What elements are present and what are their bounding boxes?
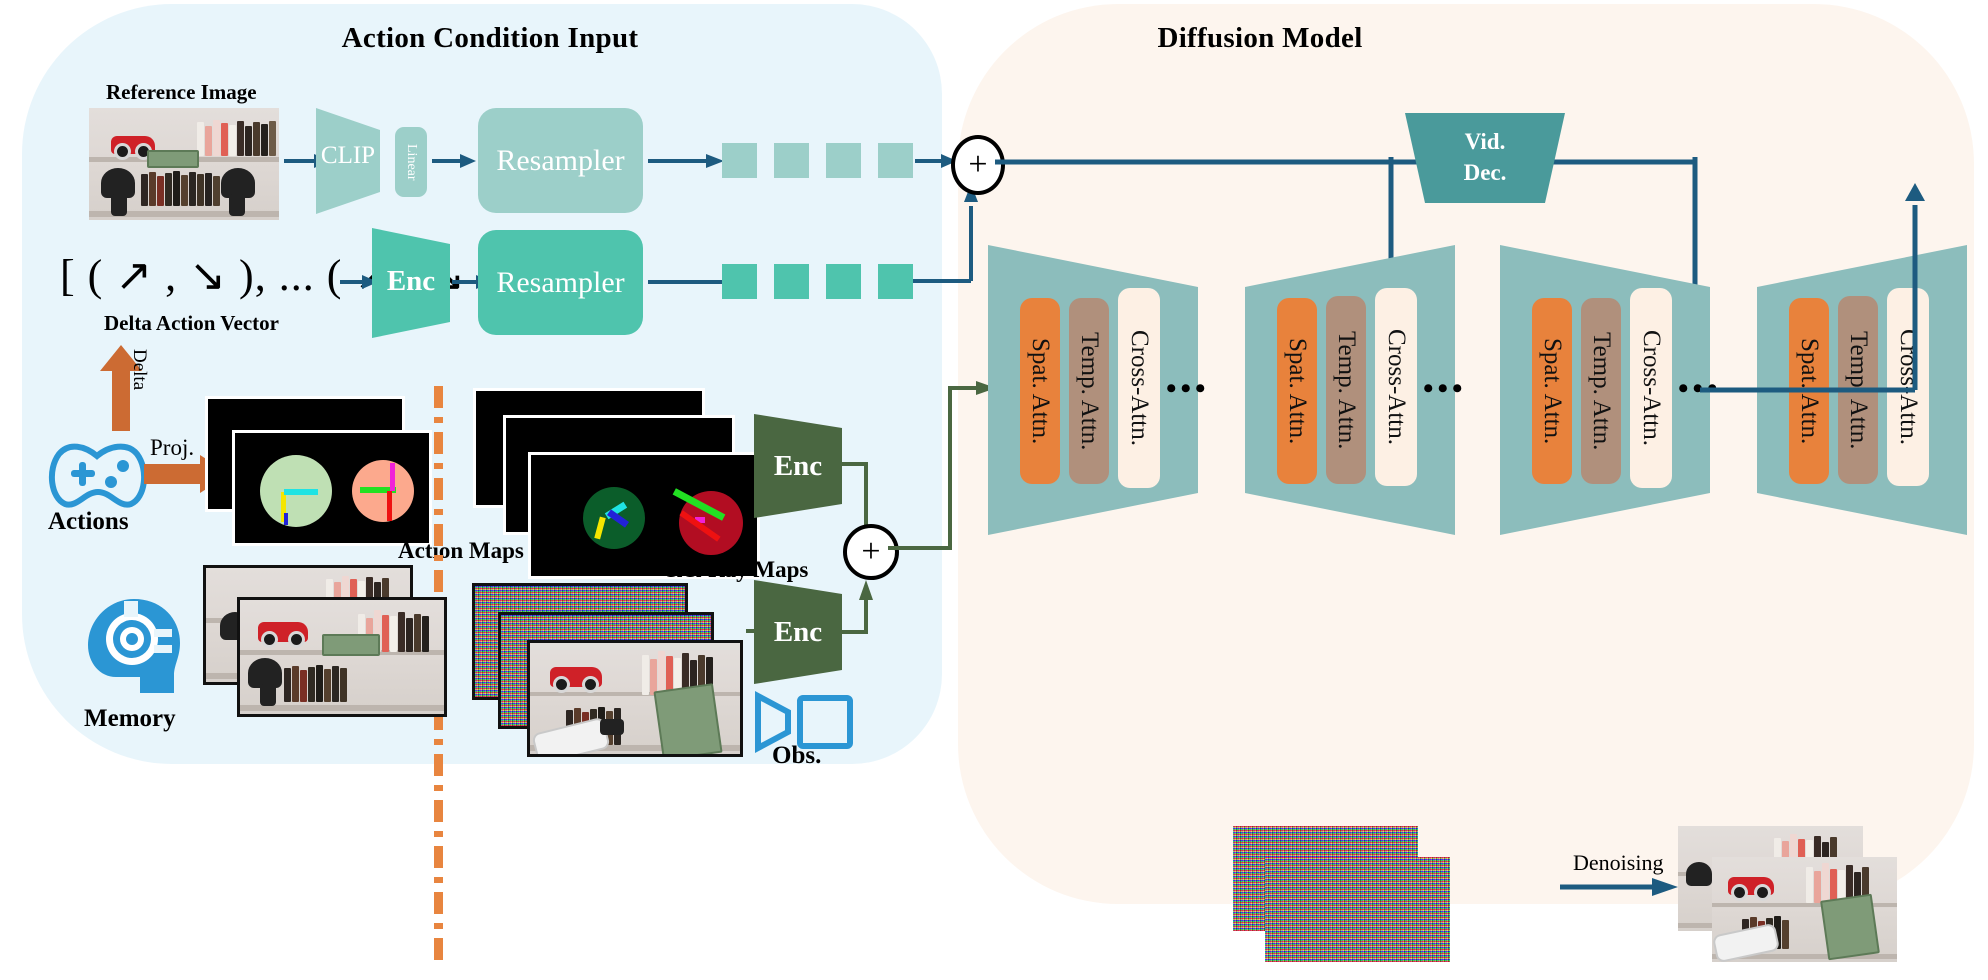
denoising-label: Denoising: [1573, 850, 1663, 876]
linear-block: Linear: [395, 127, 427, 197]
token-top-3: [826, 143, 861, 178]
denoise-input-noisy-front: [1265, 857, 1450, 962]
unet3-temp-attn: Temp. Attn.: [1581, 298, 1621, 484]
action-maps-label: Action Maps: [398, 538, 524, 564]
token-top-1: [722, 143, 757, 178]
reference-image-photo: [89, 108, 279, 220]
linear-label: Linear: [403, 144, 419, 181]
unet1-spat-attn: Spat. Attn.: [1020, 298, 1060, 484]
obs-label: Obs.: [772, 742, 821, 770]
denoising-arrow: [1560, 877, 1680, 897]
token-top-2: [774, 143, 809, 178]
delta-arrow-label: Delta: [128, 340, 150, 400]
arrow-resampler-tokens-top: [648, 151, 728, 171]
action-map-tile-front: [232, 430, 432, 546]
resampler-bottom: Resampler: [478, 230, 643, 335]
memory-photo-front: [237, 597, 447, 717]
unet3-temp-attn-label: Temp. Attn.: [1587, 332, 1615, 450]
vid-dec-line2: Dec.: [1405, 157, 1565, 188]
obs-enc-label: Enc: [754, 616, 842, 649]
unet1-spat-attn-label: Spat. Attn.: [1026, 338, 1054, 444]
unet2-spat-attn-label: Spat. Attn.: [1283, 338, 1311, 444]
diagram-root: Action Condition Input Diffusion Model R…: [0, 0, 1988, 980]
gamepad-icon: [45, 440, 155, 512]
path-enc-bottom-to-plus: [840, 574, 950, 670]
unet2-spat-attn: Spat. Attn.: [1277, 298, 1317, 484]
unet1-cross-attn-label: Cross-Attn.: [1125, 330, 1153, 446]
path-unet-to-viddec: [1700, 205, 1950, 395]
panel-title-left: Action Condition Input: [310, 22, 670, 55]
plus-symbol-top: +: [968, 148, 987, 182]
plus-symbol-mid: +: [861, 535, 880, 569]
resampler-bottom-label: Resampler: [496, 266, 624, 300]
line-resampler-tokens-bottom: [648, 279, 728, 285]
unet3-cross-attn-label: Cross-Attn.: [1637, 330, 1665, 446]
panel-title-right: Diffusion Model: [1060, 22, 1460, 55]
vid-dec-line1: Vid.: [1405, 126, 1565, 157]
token-bottom-1: [722, 264, 757, 299]
unet2-temp-attn: Temp. Attn.: [1326, 296, 1366, 484]
unet2-cross-attn: Cross-Attn.: [1375, 288, 1417, 486]
raymap-enc-label: Enc: [754, 450, 842, 483]
bus-line-top: [995, 157, 1695, 167]
unet3-spat-attn-label: Spat. Attn.: [1538, 338, 1566, 444]
token-bottom-4: [878, 264, 913, 299]
token-bottom-2: [774, 264, 809, 299]
unet3-spat-attn: Spat. Attn.: [1532, 298, 1572, 484]
delta-action-vector-label: Delta Action Vector: [104, 311, 279, 336]
reference-image-label: Reference Image: [106, 80, 257, 105]
clip-label: CLIP: [316, 142, 380, 170]
unet2-ellipsis: •••: [1423, 372, 1467, 406]
token-bottom-3: [826, 264, 861, 299]
obs-photo-front: [527, 640, 743, 757]
unet1-temp-attn: Temp. Attn.: [1069, 298, 1109, 484]
memory-head-icon: [80, 593, 190, 701]
token-top-4: [878, 143, 913, 178]
unet1-temp-attn-label: Temp. Attn.: [1075, 332, 1103, 450]
unet2-cross-attn-label: Cross-Attn.: [1382, 329, 1410, 445]
actions-label: Actions: [48, 508, 129, 536]
resampler-top-label: Resampler: [496, 144, 624, 178]
unet1-cross-attn: Cross-Attn.: [1118, 288, 1160, 488]
action-enc-label: Enc: [372, 265, 450, 298]
arrow-linear-resampler: [432, 151, 480, 171]
denoise-output-clean-front: [1712, 857, 1897, 962]
video-decoder-label: Vid. Dec.: [1405, 126, 1565, 188]
stub-unet4-feedback: [1700, 385, 1750, 395]
memory-label: Memory: [84, 705, 176, 733]
unet2-temp-attn-label: Temp. Attn.: [1332, 331, 1360, 449]
resampler-top: Resampler: [478, 108, 643, 213]
unet3-cross-attn: Cross-Attn.: [1630, 288, 1672, 488]
unet1-ellipsis: •••: [1166, 372, 1210, 406]
